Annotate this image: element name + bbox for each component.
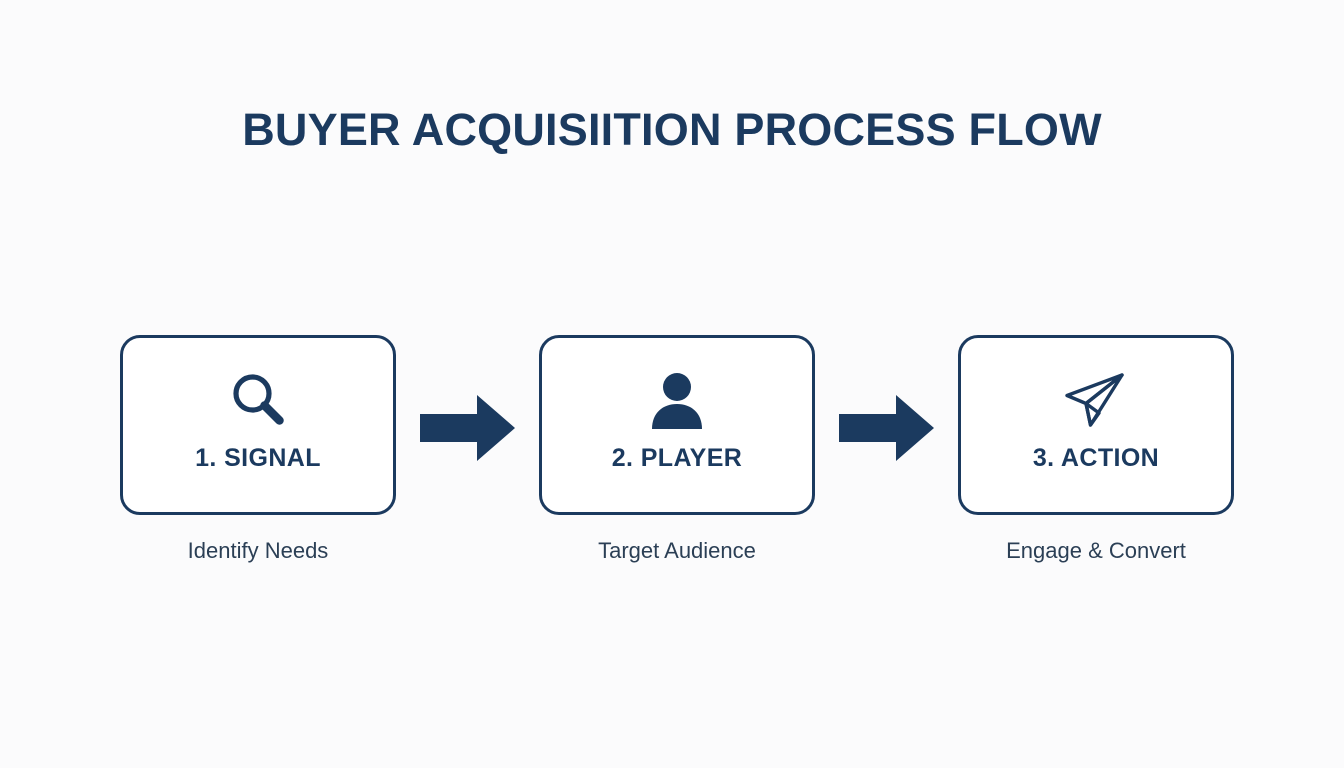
step-card-action[interactable]: 3. ACTION <box>958 335 1234 515</box>
flow-step-signal[interactable]: 1. SIGNAL Identify Needs <box>120 335 396 564</box>
arrow-right-icon <box>839 395 934 461</box>
step-caption: Engage & Convert <box>1006 538 1186 564</box>
page-title: BUYER ACQUISIITION PROCESS FLOW <box>0 99 1344 161</box>
step-caption: Target Audience <box>598 538 756 564</box>
flow-step-action[interactable]: 3. ACTION Engage & Convert <box>958 335 1234 564</box>
magnifying-glass-icon <box>222 364 294 436</box>
step-label: 3. ACTION <box>1033 444 1159 473</box>
step-caption: Identify Needs <box>188 538 329 564</box>
arrow-right-icon <box>420 395 515 461</box>
step-label: 2. PLAYER <box>612 444 743 473</box>
person-icon <box>641 364 713 436</box>
paper-plane-icon <box>1060 364 1132 436</box>
step-card-signal[interactable]: 1. SIGNAL <box>120 335 396 515</box>
flow-step-player[interactable]: 2. PLAYER Target Audience <box>539 335 815 564</box>
process-flow: 1. SIGNAL Identify Needs 2. PLAYER Targe… <box>120 335 1234 575</box>
step-card-player[interactable]: 2. PLAYER <box>539 335 815 515</box>
step-label: 1. SIGNAL <box>195 444 321 473</box>
